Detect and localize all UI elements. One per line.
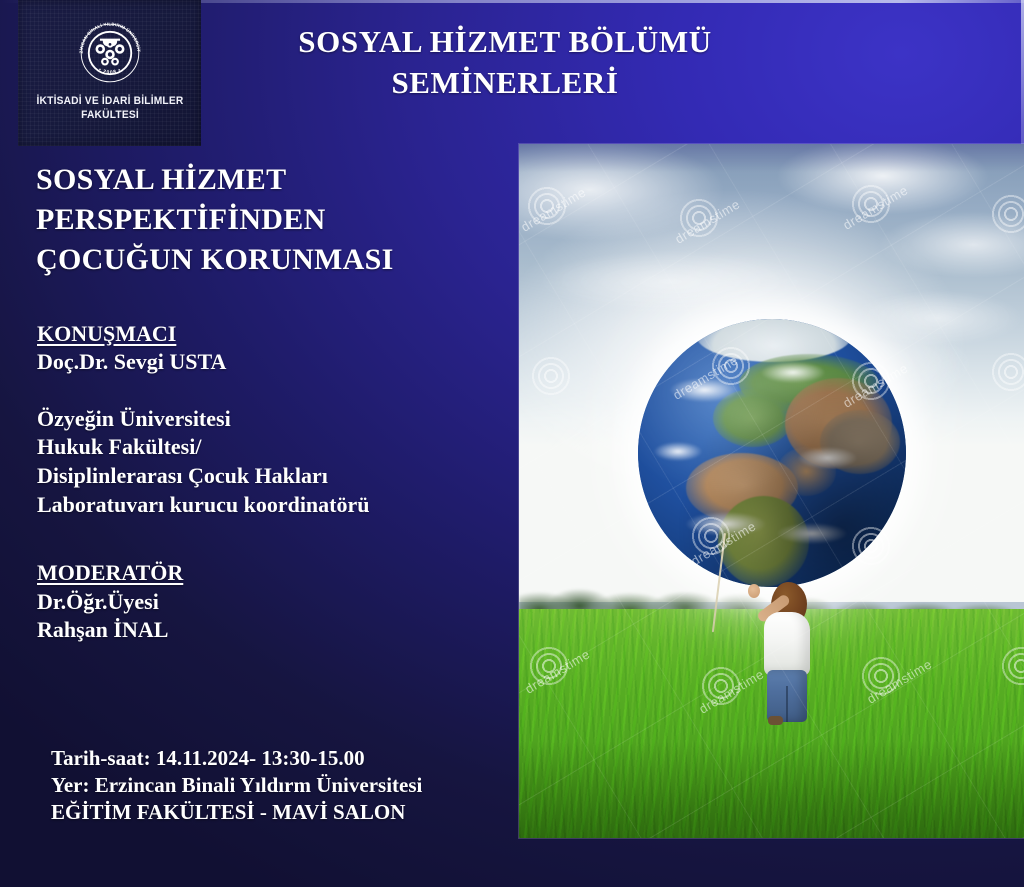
series-title-line2: SEMİNERLERİ [205, 63, 805, 104]
affiliation-line2: Hukuk Fakültesi/ [37, 433, 512, 462]
series-title-line1: SOSYAL HİZMET BÖLÜMÜ [298, 24, 711, 59]
seminar-poster: ERZİNCAN BİNALİ YILDIRIM ÜNİVERSİTESİ • … [0, 0, 1024, 887]
child-hand [748, 584, 760, 598]
grass-foreground-shadow [519, 741, 1024, 838]
moderator-section: MODERATÖR Dr.Öğr.Üyesi Rahşan İNAL [0, 559, 512, 645]
moderator-title: Dr.Öğr.Üyesi [37, 588, 512, 617]
speaker-role-label: KONUŞMACI [37, 320, 512, 349]
faculty-name: İKTİSADİ VE İDARİ BİLİMLER FAKÜLTESİ [36, 95, 183, 123]
affiliation-line4: Laboratuvarı kurucu koordinatörü [37, 491, 512, 520]
seminar-photo: dreamstime dreamstime dreamstime dreamst… [519, 144, 1024, 838]
faculty-name-line2: FAKÜLTESİ [36, 109, 183, 123]
affiliation-line3: Disiplinlerarası Çocuk Hakları [37, 462, 512, 491]
event-venue: Yer: Erzincan Binali Yıldırm Üniversites… [51, 772, 512, 826]
page-title-line3: ÇOCUĞUN KORUNMASI [36, 240, 512, 280]
event-details: Tarih-saat: 14.11.2024- 13:30-15.00 Yer:… [0, 745, 512, 826]
page-title-line2: PERSPEKTİFİNDEN [36, 200, 512, 240]
poster-left-column: SOSYAL HİZMET PERSPEKTİFİNDEN ÇOCUĞUN KO… [0, 160, 512, 645]
seminar-series-title: SOSYAL HİZMET BÖLÜMÜ SEMİNERLERİ [205, 22, 805, 104]
speaker-affiliation: Özyeğin Üniversitesi Hukuk Fakültesi/ Di… [0, 405, 512, 519]
venue-line2: EĞİTİM FAKÜLTESİ - MAVİ SALON [51, 799, 512, 826]
university-emblem-icon: ERZİNCAN BİNALİ YILDIRIM ÜNİVERSİTESİ • … [74, 17, 146, 89]
moderator-name: Rahşan İNAL [37, 616, 512, 645]
photo-top-glow [519, 144, 1024, 172]
faculty-name-line1: İKTİSADİ VE İDARİ BİLİMLER [36, 95, 183, 109]
speaker-name: Doç.Dr. Sevgi USTA [37, 348, 512, 377]
globe-shading [638, 319, 906, 587]
page-title: SOSYAL HİZMET PERSPEKTİFİNDEN ÇOCUĞUN KO… [0, 160, 512, 280]
child-shirt [764, 612, 810, 676]
child-shoe [768, 716, 783, 725]
earth-globe [638, 319, 906, 587]
child-leg-divide [786, 686, 788, 722]
affiliation-line1: Özyeğin Üniversitesi [37, 405, 512, 434]
child-figure [741, 574, 825, 724]
moderator-role-label: MODERATÖR [37, 559, 512, 588]
event-datetime: Tarih-saat: 14.11.2024- 13:30-15.00 [51, 745, 512, 772]
page-title-line1: SOSYAL HİZMET [36, 160, 512, 200]
speaker-section: KONUŞMACI Doç.Dr. Sevgi USTA [0, 320, 512, 377]
university-logo-panel: ERZİNCAN BİNALİ YILDIRIM ÜNİVERSİTESİ • … [18, 0, 201, 146]
venue-line1: Yer: Erzincan Binali Yıldırm Üniversites… [51, 772, 512, 799]
